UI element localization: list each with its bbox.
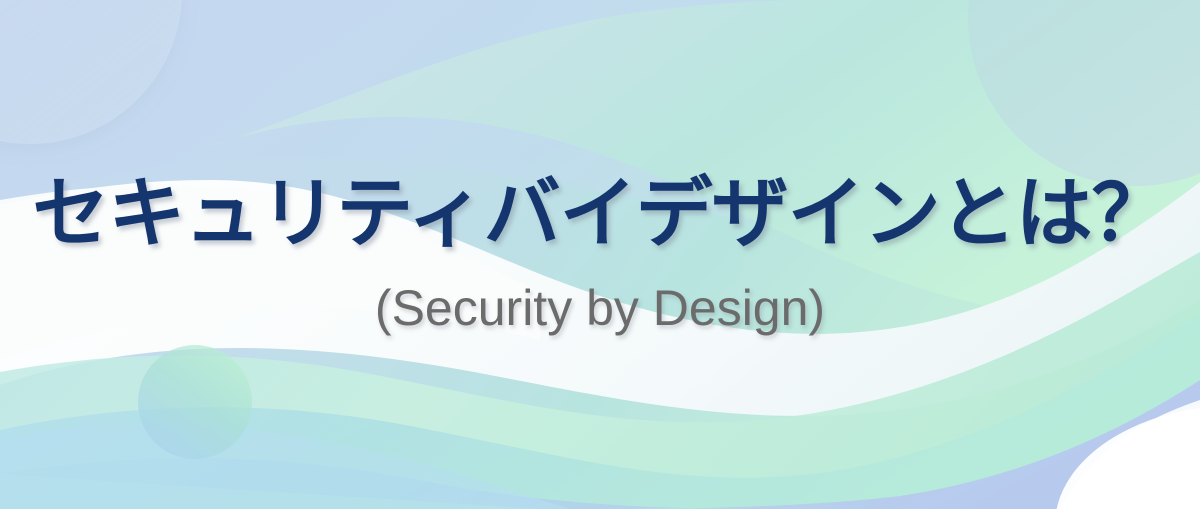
page-title: セキュリティバイデザインとは？	[32, 176, 1167, 253]
page-subtitle: (Security by Design)	[375, 283, 825, 333]
headline-block: セキュリティバイデザインとは？ (Security by Design)	[0, 0, 1200, 509]
banner-root: セキュリティバイデザインとは？ (Security by Design)	[0, 0, 1200, 509]
